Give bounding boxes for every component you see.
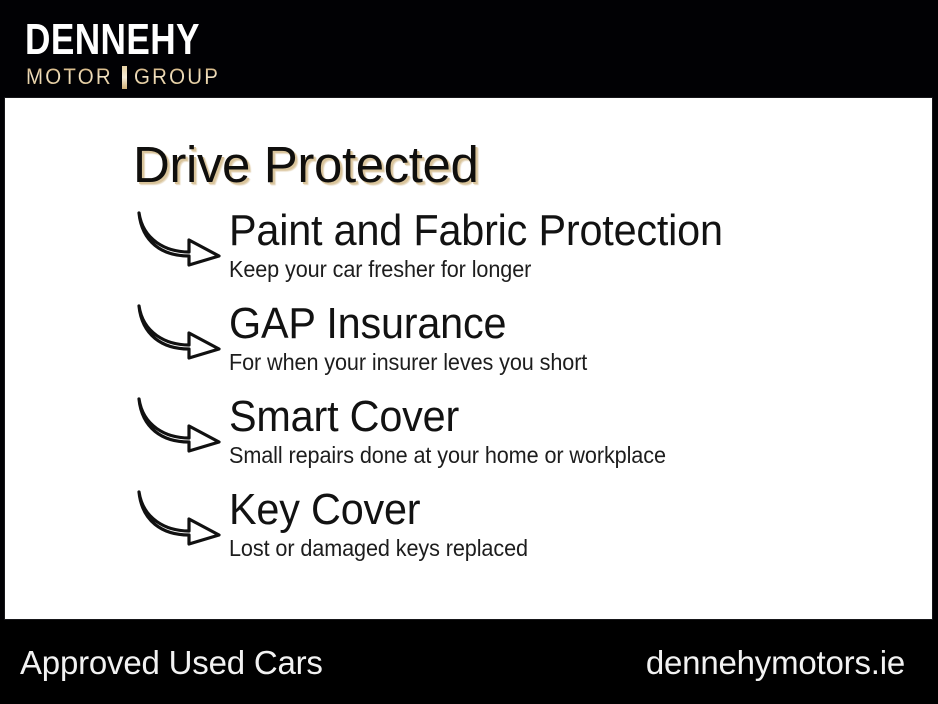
feature-subtitle: Keep your car fresher for longer [229,256,723,283]
feature-item: GAP Insurance For when your insurer leve… [5,299,932,392]
feature-text-block: Smart Cover Small repairs done at your h… [229,392,694,469]
vertical-bar-icon [122,66,127,89]
header-bar: DENNEHY MOTOR GROUP [0,0,938,97]
feature-title: Paint and Fabric Protection [229,206,723,256]
feature-list: Paint and Fabric Protection Keep your ca… [5,206,932,578]
feature-title: GAP Insurance [229,299,587,349]
approved-used-cars-label: Approved Used Cars [20,644,323,682]
feature-subtitle: For when your insurer leves you short [229,349,587,376]
website-url[interactable]: dennehymotors.ie [646,644,905,682]
feature-subtitle: Small repairs done at your home or workp… [229,442,666,469]
feature-title: Smart Cover [229,392,666,442]
curved-arrow-right-icon [136,396,222,454]
feature-subtitle: Lost or damaged keys replaced [229,535,528,562]
logo-subline: MOTOR GROUP [26,65,227,89]
logo-word-group: GROUP [134,65,220,89]
feature-text-block: Key Cover Lost or damaged keys replaced [229,485,547,562]
curved-arrow-right-icon [136,489,222,547]
logo-wordmark: DENNEHY [25,19,195,61]
feature-title: Key Cover [229,485,528,535]
footer-bar: Approved Used Cars dennehymotors.ie [0,620,938,704]
curved-arrow-right-icon [136,210,222,268]
feature-item: Smart Cover Small repairs done at your h… [5,392,932,485]
content-card: Drive Protected Paint and Fabric Protect… [4,97,933,620]
curved-arrow-right-icon [136,303,222,361]
feature-text-block: GAP Insurance For when your insurer leve… [229,299,610,376]
feature-item: Paint and Fabric Protection Keep your ca… [5,206,932,299]
logo-word-motor: MOTOR [26,65,113,89]
dennehy-motor-group-logo: DENNEHY MOTOR GROUP [25,19,237,87]
feature-item: Key Cover Lost or damaged keys replaced [5,485,932,578]
feature-text-block: Paint and Fabric Protection Keep your ca… [229,206,754,283]
promo-banner: DENNEHY MOTOR GROUP Drive Protected Pain… [0,0,938,704]
page-title: Drive Protected [133,138,478,192]
